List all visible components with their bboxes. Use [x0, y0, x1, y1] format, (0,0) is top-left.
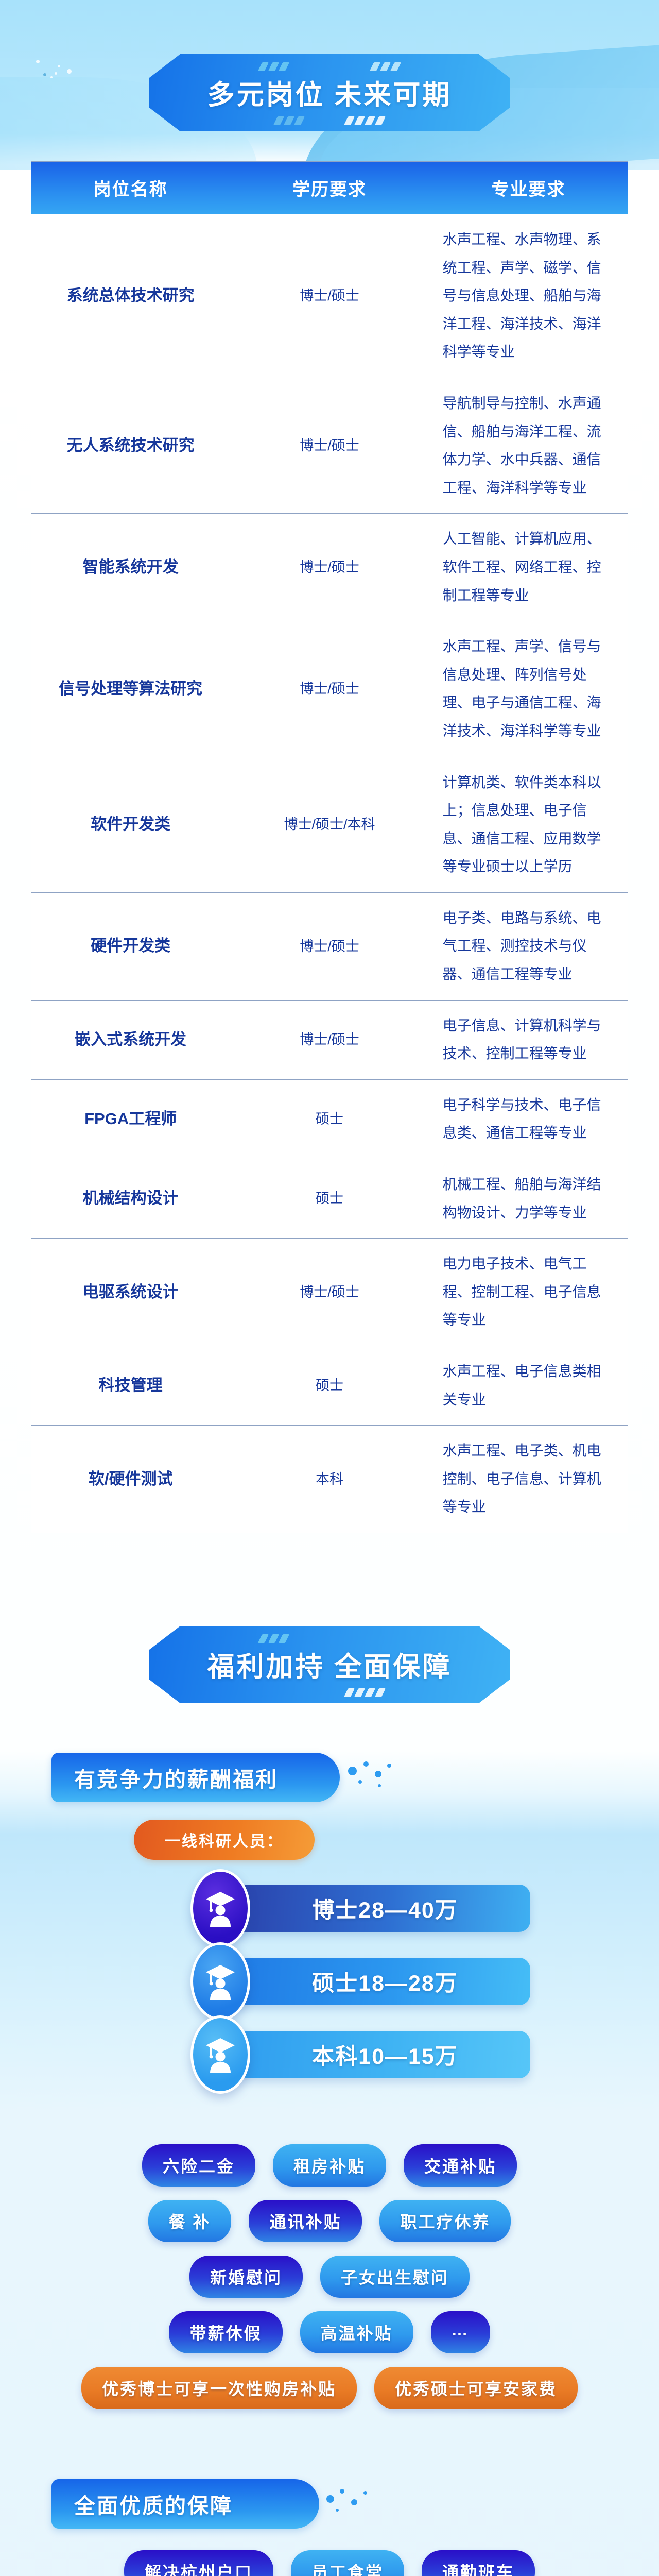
jobs-table: 岗位名称 学历要求 专业要求 系统总体技术研究博士/硕士水声工程、水声物理、系统… [31, 161, 628, 1533]
table-row: 嵌入式系统开发博士/硕士电子信息、计算机科学与技术、控制工程等专业 [31, 1000, 628, 1079]
table-row: 智能系统开发博士/硕士人工智能、计算机应用、软件工程、网络工程、控制工程等专业 [31, 514, 628, 621]
welfare-chip: 子女出生慰问 [320, 2256, 470, 2298]
table-row: 科技管理硕士水声工程、电子信息类相关专业 [31, 1346, 628, 1426]
guarantee-chip: 解决杭州户口 [124, 2550, 273, 2576]
benefits-banner-shape: 福利加持 全面保障 [149, 1626, 510, 1703]
banner-slash-decoration-topright [372, 62, 399, 71]
cell-education: 博士/硕士 [230, 1000, 429, 1079]
salary-bar: 本科10—15万 [217, 2031, 530, 2078]
salary-heading-pill: 有竞争力的薪酬福利 [51, 1753, 340, 1802]
cell-job-name: 嵌入式系统开发 [31, 1000, 230, 1079]
cell-education: 硕士 [230, 1079, 429, 1159]
table-row: 无人系统技术研究博士/硕士导航制导与控制、水声通信、船舶与海洋工程、流体力学、水… [31, 378, 628, 513]
banner-slash-decoration-bottomleft [275, 116, 303, 125]
cell-education: 博士/硕士 [230, 214, 429, 378]
cell-major: 电力电子技术、电气工程、控制工程、电子信息等专业 [429, 1239, 628, 1346]
salary-heading-label: 有竞争力的薪酬福利 [74, 1762, 278, 1793]
graduation-cap-icon [190, 1869, 250, 1947]
cell-major: 水声工程、声学、信号与信息处理、阵列信号处理、电子与通信工程、海洋技术、海洋科学… [429, 621, 628, 757]
cell-education: 博士/硕士 [230, 378, 429, 513]
welfare-chip-row: 餐 补通讯补贴职工疗休养 [46, 2200, 613, 2242]
cell-major: 电子类、电路与系统、电气工程、测控技术与仪器、通信工程等专业 [429, 892, 628, 1000]
column-header-education: 学历要求 [230, 162, 429, 214]
benefits-slash-bottomright [346, 1688, 384, 1697]
cell-major: 电子科学与技术、电子信息类、通信工程等专业 [429, 1079, 628, 1159]
welfare-chip-row: 新婚慰问子女出生慰问 [46, 2256, 613, 2298]
cell-job-name: 电驱系统设计 [31, 1239, 230, 1346]
cell-education: 本科 [230, 1426, 429, 1533]
table-row: 系统总体技术研究博士/硕士水声工程、水声物理、系统工程、声学、磁学、信号与信息处… [31, 214, 628, 378]
guarantee-section-heading: 全面优质的保障 [51, 2479, 608, 2529]
cell-education: 博士/硕士 [230, 621, 429, 757]
salary-bar: 硕士18—28万 [217, 1958, 530, 2005]
table-row: FPGA工程师硕士电子科学与技术、电子信息类、通信工程等专业 [31, 1079, 628, 1159]
welfare-chip-row: 优秀博士可享一次性购房补贴优秀硕士可享安家费 [46, 2367, 613, 2409]
table-row: 软/硬件测试本科水声工程、电子类、机电控制、电子信息、计算机等专业 [31, 1426, 628, 1533]
guarantee-heading-label: 全面优质的保障 [74, 2488, 233, 2519]
table-row: 信号处理等算法研究博士/硕士水声工程、声学、信号与信息处理、阵列信号处理、电子与… [31, 621, 628, 757]
banner-slash-decoration-bottomright [346, 116, 384, 125]
benefits-banner-title: 福利加持 全面保障 [207, 1645, 452, 1684]
cell-education: 博士/硕士 [230, 892, 429, 1000]
welfare-chip: … [431, 2311, 490, 2353]
welfare-chip: 职工疗休养 [379, 2200, 511, 2242]
guarantee-chip-row: 解决杭州户口员工食堂通勤班车 [46, 2550, 613, 2576]
welfare-chip: 带薪休假 [169, 2311, 282, 2353]
cell-education: 博士/硕士/本科 [230, 757, 429, 892]
welfare-chip: 高温补贴 [300, 2311, 413, 2353]
benefits-banner: 福利加持 全面保障 [0, 1626, 659, 1703]
cell-education: 硕士 [230, 1346, 429, 1426]
salary-heading-bubbles [345, 1759, 427, 1795]
salary-row: 本科10—15万 [51, 2027, 608, 2082]
salary-row: 硕士18—28万 [51, 1954, 608, 2009]
welfare-chip: 通讯补贴 [249, 2200, 362, 2242]
welfare-chip: 六险二金 [142, 2144, 255, 2187]
cell-job-name: 科技管理 [31, 1346, 230, 1426]
jobs-banner-shape: 多元岗位 未来可期 [149, 54, 510, 131]
cell-major: 水声工程、电子信息类相关专业 [429, 1346, 628, 1426]
cell-education: 博士/硕士 [230, 514, 429, 621]
welfare-chip: 优秀博士可享一次性购房补贴 [81, 2367, 357, 2409]
cell-major: 计算机类、软件类本科以上；信息处理、电子信息、通信工程、应用数学等专业硕士以上学… [429, 757, 628, 892]
cell-major: 水声工程、水声物理、系统工程、声学、磁学、信号与信息处理、船舶与海洋工程、海洋技… [429, 214, 628, 378]
cell-job-name: 软/硬件测试 [31, 1426, 230, 1533]
jobs-banner: 多元岗位 未来可期 [0, 54, 659, 131]
table-row: 软件开发类博士/硕士/本科计算机类、软件类本科以上；信息处理、电子信息、通信工程… [31, 757, 628, 892]
welfare-chip: 租房补贴 [273, 2144, 386, 2187]
cell-job-name: FPGA工程师 [31, 1079, 230, 1159]
role-tag-frontline-researcher: 一线科研人员： [134, 1820, 315, 1860]
cell-major: 机械工程、船舶与海洋结构物设计、力学等专业 [429, 1159, 628, 1239]
table-row: 电驱系统设计博士/硕士电力电子技术、电气工程、控制工程、电子信息等专业 [31, 1239, 628, 1346]
guarantee-heading-bubbles [324, 2486, 407, 2522]
cell-education: 博士/硕士 [230, 1239, 429, 1346]
cell-job-name: 系统总体技术研究 [31, 214, 230, 378]
cell-job-name: 智能系统开发 [31, 514, 230, 621]
graduation-cap-icon [190, 2015, 250, 2094]
benefits-slash-topleft [260, 1634, 287, 1643]
cell-major: 人工智能、计算机应用、软件工程、网络工程、控制工程等专业 [429, 514, 628, 621]
welfare-chip: 交通补贴 [404, 2144, 517, 2187]
welfare-chip: 优秀硕士可享安家费 [374, 2367, 578, 2409]
cell-major: 电子信息、计算机科学与技术、控制工程等专业 [429, 1000, 628, 1079]
cell-major: 导航制导与控制、水声通信、船舶与海洋工程、流体力学、水中兵器、通信工程、海洋科学… [429, 378, 628, 513]
welfare-chip-row: 六险二金租房补贴交通补贴 [46, 2144, 613, 2187]
graduation-cap-icon [190, 1942, 250, 2021]
cell-job-name: 无人系统技术研究 [31, 378, 230, 513]
cell-job-name: 软件开发类 [31, 757, 230, 892]
guarantee-chip: 通勤班车 [422, 2550, 535, 2576]
jobs-banner-title: 多元岗位 未来可期 [207, 73, 452, 112]
column-header-major: 专业要求 [429, 162, 628, 214]
cell-job-name: 机械结构设计 [31, 1159, 230, 1239]
welfare-chip-row: 带薪休假高温补贴… [46, 2311, 613, 2353]
welfare-chip-group: 六险二金租房补贴交通补贴餐 补通讯补贴职工疗休养新婚慰问子女出生慰问带薪休假高温… [46, 2144, 613, 2409]
banner-slash-decoration-topleft [260, 62, 287, 71]
salary-bar: 博士28—40万 [217, 1885, 530, 1932]
table-row: 机械结构设计硕士机械工程、船舶与海洋结构物设计、力学等专业 [31, 1159, 628, 1239]
column-header-job-name: 岗位名称 [31, 162, 230, 214]
table-row: 硬件开发类博士/硕士电子类、电路与系统、电气工程、测控技术与仪器、通信工程等专业 [31, 892, 628, 1000]
salary-label: 本科10—15万 [312, 2039, 458, 2071]
cell-job-name: 硬件开发类 [31, 892, 230, 1000]
guarantee-chip: 员工食堂 [291, 2550, 404, 2576]
guarantee-chip-group: 解决杭州户口员工食堂通勤班车健身中心所 服 [46, 2550, 613, 2576]
cell-major: 水声工程、电子类、机电控制、电子信息、计算机等专业 [429, 1426, 628, 1533]
welfare-chip: 餐 补 [148, 2200, 232, 2242]
guarantee-heading-pill: 全面优质的保障 [51, 2479, 319, 2529]
salary-label: 硕士18—28万 [312, 1965, 458, 1997]
salary-label: 博士28—40万 [312, 1892, 458, 1924]
welfare-chip: 新婚慰问 [189, 2256, 303, 2298]
salary-section-heading: 有竞争力的薪酬福利 [51, 1753, 608, 1802]
cell-education: 硕士 [230, 1159, 429, 1239]
salary-row: 博士28—40万 [51, 1880, 608, 1936]
cell-job-name: 信号处理等算法研究 [31, 621, 230, 757]
jobs-table-header-row: 岗位名称 学历要求 专业要求 [31, 162, 628, 214]
salary-list: 博士28—40万 硕士18—28万 本科10—15万 [51, 1880, 608, 2082]
